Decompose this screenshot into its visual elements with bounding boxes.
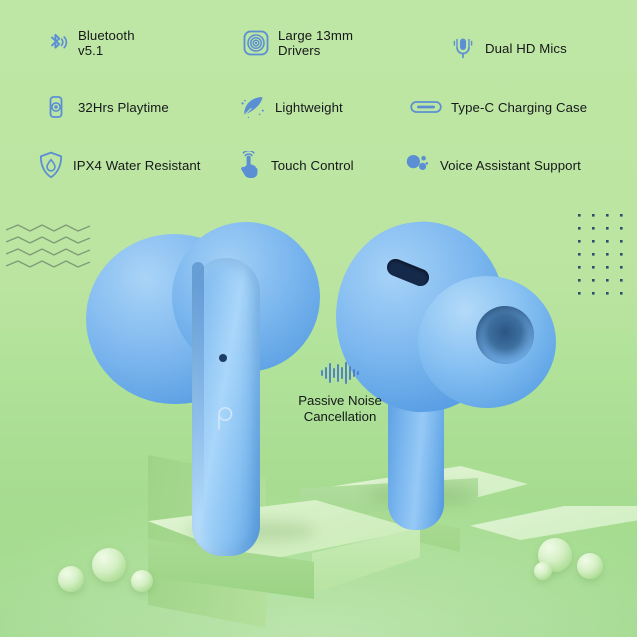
feature-playtime-label: 32Hrs Playtime: [78, 100, 169, 115]
feature-bluetooth[interactable]: Bluetooth v5.1: [43, 28, 135, 58]
feature-mics-label: Dual HD Mics: [485, 41, 567, 56]
decor-sphere-5: [577, 553, 603, 579]
feature-playtime[interactable]: 32Hrs Playtime: [43, 94, 169, 120]
feature-water-resistant-label: IPX4 Water Resistant: [73, 158, 201, 173]
passive-noise-cancellation-label: Passive Noise Cancellation: [282, 393, 398, 425]
microphone-icon: [450, 35, 476, 61]
decor-dots-top-right: [576, 212, 636, 304]
feature-voice-assistant-label: Voice Assistant Support: [440, 158, 581, 173]
feature-bluetooth-label: Bluetooth v5.1: [78, 28, 135, 58]
shield-water-drop-icon: [38, 152, 64, 178]
voice-assistant-dots-icon: [405, 152, 431, 178]
feather-lightweight-icon: [240, 94, 266, 120]
passive-noise-cancellation-callout: Passive Noise Cancellation: [282, 362, 398, 425]
decor-sphere-6: [534, 562, 552, 580]
feature-mics[interactable]: Dual HD Mics: [450, 35, 567, 61]
decor-waves-left: [6, 222, 92, 278]
feature-type-c-label: Type-C Charging Case: [451, 100, 587, 115]
feature-list: Bluetooth v5.1 Large 13mm Drivers: [0, 22, 637, 212]
bluetooth-icon: [43, 30, 69, 56]
earbud-left-mic-hole: [219, 354, 227, 362]
touch-hand-icon: [236, 152, 262, 178]
feature-lightweight[interactable]: Lightweight: [240, 94, 343, 120]
usb-type-c-icon: [410, 94, 442, 120]
battery-playtime-icon: [43, 94, 69, 120]
sound-waveform-icon: [320, 362, 360, 389]
earbud-left-stem-edge: [192, 262, 204, 512]
product-feature-banner: Passive Noise Cancellation Bluetooth v5.…: [0, 0, 637, 637]
feature-water-resistant[interactable]: IPX4 Water Resistant: [38, 152, 201, 178]
feature-touch-control-label: Touch Control: [271, 158, 354, 173]
feature-voice-assistant[interactable]: Voice Assistant Support: [405, 152, 581, 178]
driver-speaker-icon: [243, 30, 269, 56]
decor-sphere-1: [92, 548, 126, 582]
feature-drivers-label: Large 13mm Drivers: [278, 28, 353, 58]
decor-sphere-2: [58, 566, 84, 592]
feature-lightweight-label: Lightweight: [275, 100, 343, 115]
feature-drivers[interactable]: Large 13mm Drivers: [243, 28, 353, 58]
feature-touch-control[interactable]: Touch Control: [236, 152, 354, 178]
feature-type-c[interactable]: Type-C Charging Case: [410, 94, 587, 120]
p-logo: [210, 404, 238, 432]
earbud-right-nozzle-inner: [488, 316, 522, 352]
decor-sphere-3: [131, 570, 153, 592]
